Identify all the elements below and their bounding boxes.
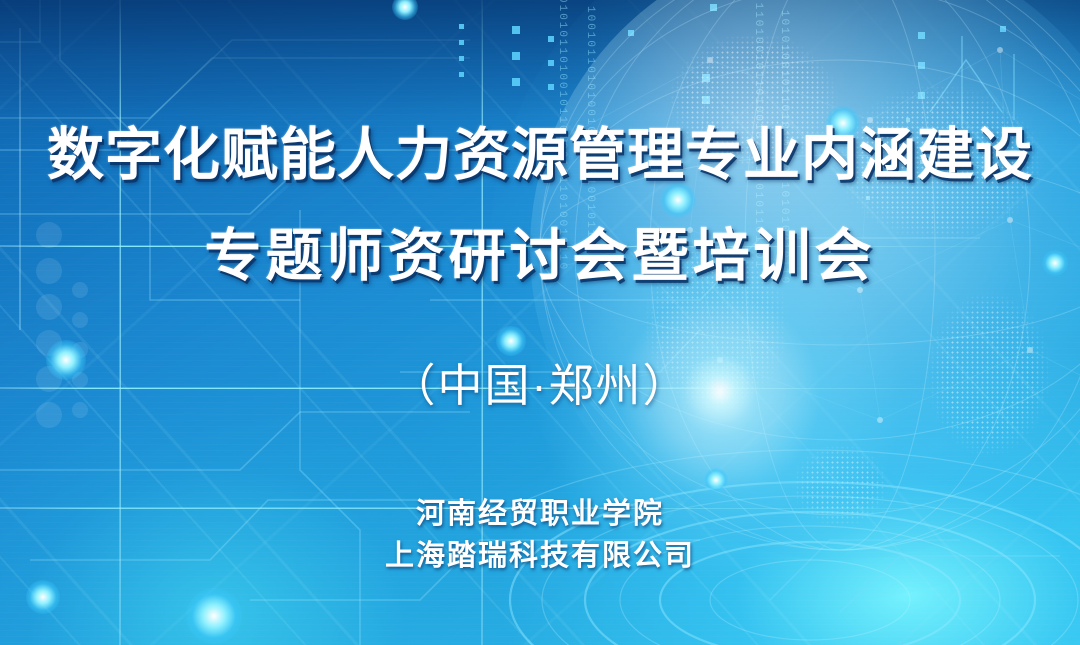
organizer-name: 河南经贸职业学院 xyxy=(385,493,695,535)
page-title-line-2: 专题师资研讨会暨培训会 xyxy=(205,228,876,285)
page-title-line-1: 数字化赋能人力资源管理专业内涵建设 xyxy=(47,127,1033,184)
organizer-name: 上海踏瑞科技有限公司 xyxy=(385,535,695,577)
banner-content: 数字化赋能人力资源管理专业内涵建设 专题师资研讨会暨培训会 （中国·郑州） 河南… xyxy=(0,0,1080,645)
organizer-list: 河南经贸职业学院 上海踏瑞科技有限公司 xyxy=(385,493,695,577)
event-location-subtitle: （中国·郑州） xyxy=(391,349,690,414)
conference-banner: 01010110100101101001011010010110 1001011… xyxy=(0,0,1080,645)
